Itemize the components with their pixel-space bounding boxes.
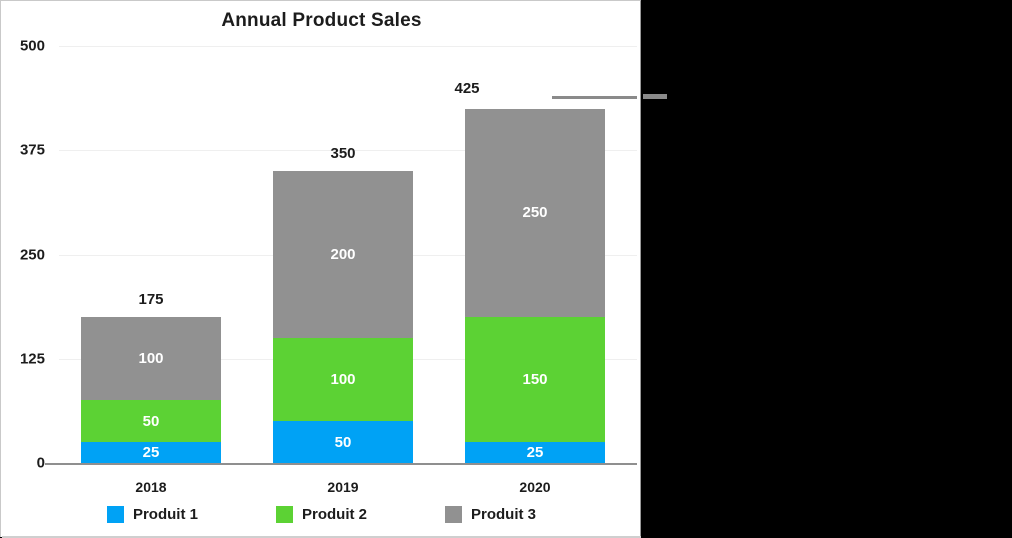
legend-label-produit-3: Produit 3	[471, 506, 536, 523]
bar-segment-2020-produit-1[interactable]: 25	[465, 442, 605, 463]
bar-value-2018-produit-2: 50	[143, 414, 160, 429]
bar-segment-2019-produit-2[interactable]: 100	[273, 338, 413, 421]
callout-leader-line-extension	[643, 94, 667, 99]
chart-canvas: Annual Product Sales 500 375 250 125 0 1…	[0, 0, 641, 537]
bar-segment-2020-produit-3[interactable]: 250	[465, 109, 605, 318]
bar-segment-2018-produit-1[interactable]: 25	[81, 442, 221, 463]
bar-total-label-2018: 175	[81, 291, 221, 308]
x-axis-line	[45, 463, 637, 465]
bar-group-2020[interactable]: 425 25 150 250 2020	[465, 46, 605, 463]
bar-value-2019-produit-2: 100	[330, 372, 355, 387]
bar-value-2020-produit-3: 250	[522, 205, 547, 220]
y-tick-250: 250	[20, 246, 45, 263]
y-tick-0: 0	[37, 455, 45, 472]
legend-swatch-produit-3	[445, 506, 462, 523]
legend-swatch-produit-2	[276, 506, 293, 523]
bar-value-2018-produit-3: 100	[138, 351, 163, 366]
x-tick-2018: 2018	[81, 479, 221, 495]
bar-value-2020-produit-1: 25	[527, 445, 544, 460]
bar-segment-2018-produit-2[interactable]: 50	[81, 400, 221, 442]
legend-swatch-produit-1	[107, 506, 124, 523]
y-axis: 500 375 250 125 0	[1, 46, 59, 463]
y-tick-125: 125	[20, 350, 45, 367]
bar-value-2018-produit-1: 25	[143, 445, 160, 460]
bar-group-2018[interactable]: 175 25 50 100 2018	[81, 46, 221, 463]
legend-label-produit-2: Produit 2	[302, 506, 367, 523]
bar-segment-2019-produit-1[interactable]: 50	[273, 421, 413, 463]
chart-legend: Produit 1 Produit 2 Produit 3	[1, 506, 642, 523]
bar-stack-2020: 25 150 250	[465, 109, 605, 463]
chart-title: Annual Product Sales	[1, 10, 642, 32]
bar-group-2019[interactable]: 350 50 100 200 2019	[273, 46, 413, 463]
bar-stack-2019: 50 100 200	[273, 171, 413, 463]
bar-segment-2018-produit-3[interactable]: 100	[81, 317, 221, 400]
bar-value-2020-produit-2: 150	[522, 372, 547, 387]
x-tick-2019: 2019	[273, 479, 413, 495]
y-tick-375: 375	[20, 142, 45, 159]
legend-label-produit-1: Produit 1	[133, 506, 198, 523]
bar-segment-2020-produit-2[interactable]: 150	[465, 317, 605, 442]
plot-area: 175 25 50 100 2018 350 50	[59, 46, 637, 463]
bar-total-label-2020: 425	[397, 80, 537, 97]
bar-value-2019-produit-1: 50	[335, 435, 352, 450]
legend-item-produit-1[interactable]: Produit 1	[107, 506, 198, 523]
legend-item-produit-2[interactable]: Produit 2	[276, 506, 367, 523]
x-tick-2020: 2020	[465, 479, 605, 495]
bar-total-label-2019: 350	[273, 145, 413, 162]
bar-segment-2019-produit-3[interactable]: 200	[273, 171, 413, 338]
bar-value-2019-produit-3: 200	[330, 247, 355, 262]
legend-item-produit-3[interactable]: Produit 3	[445, 506, 536, 523]
callout-leader-line	[552, 96, 637, 99]
bar-stack-2018: 25 50 100	[81, 317, 221, 463]
y-tick-500: 500	[20, 38, 45, 55]
